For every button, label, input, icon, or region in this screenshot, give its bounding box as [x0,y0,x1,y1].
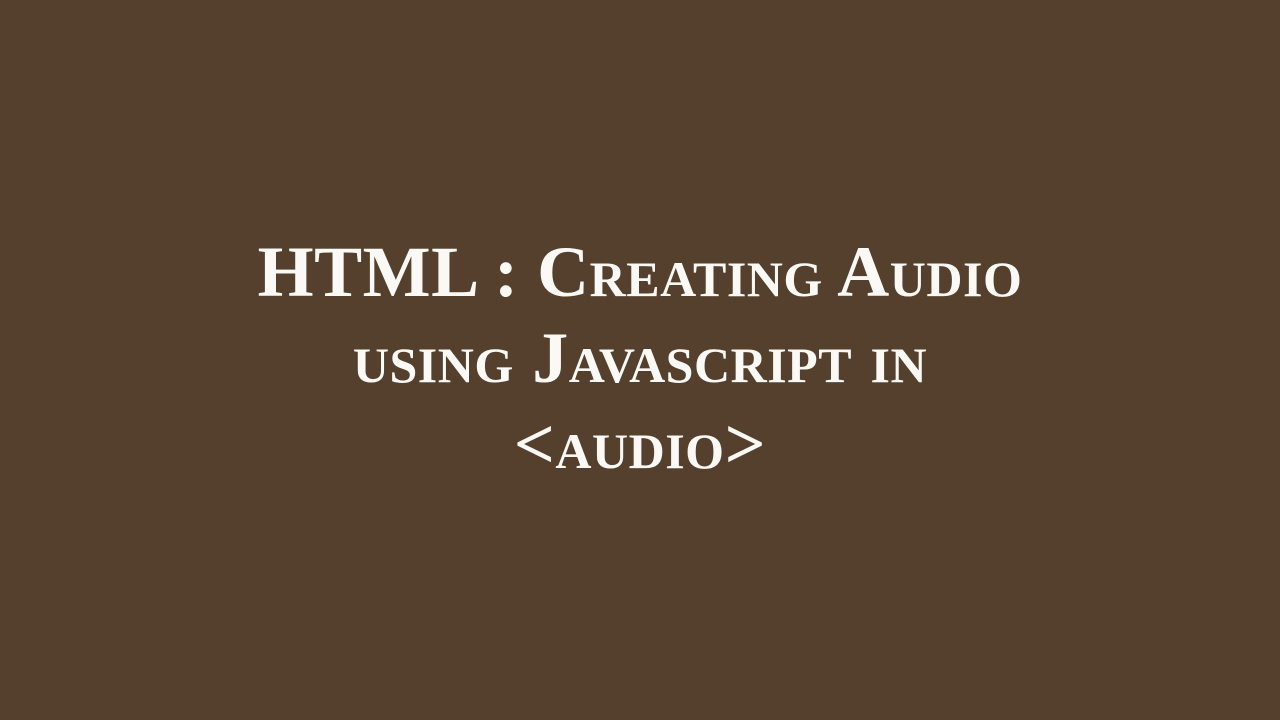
title-line-1: HTML : Creating Audio [70,229,1210,315]
title-card: HTML : Creating Audio using Javascript i… [0,0,1280,720]
title-line-2: using Javascript in [70,315,1210,401]
title-text-block: HTML : Creating Audio using Javascript i… [70,229,1210,487]
title-line-3: <audio> [70,401,1210,487]
